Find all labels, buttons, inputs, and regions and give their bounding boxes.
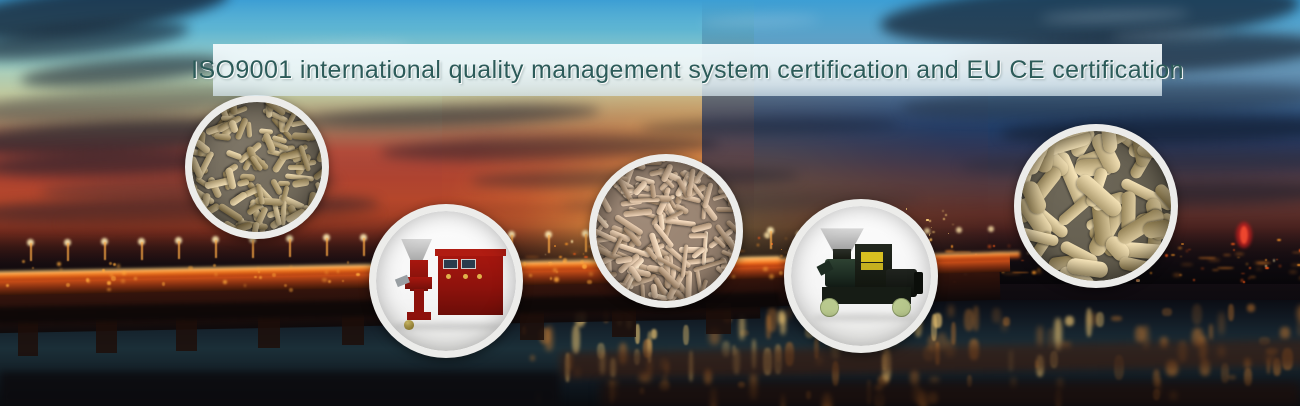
product-circle-green-black-pellet-mill[interactable] — [784, 199, 938, 353]
light-reflection — [1228, 304, 1234, 321]
page-title: ISO9001 international quality management… — [191, 56, 1184, 85]
lamp-post — [67, 243, 69, 261]
bridge-lamp — [87, 279, 91, 283]
bridge-lamp — [134, 277, 137, 280]
lamp-post — [141, 242, 143, 260]
city-light — [1171, 254, 1175, 256]
light-reflection — [651, 329, 657, 339]
bridge-lamp — [66, 283, 70, 287]
river-bank-foreground — [0, 372, 560, 406]
bridge-lamp — [523, 262, 527, 266]
city-light — [1150, 272, 1152, 274]
light-reflection — [1086, 308, 1092, 337]
lamp-post — [252, 240, 254, 258]
bridge-lamp — [553, 268, 557, 272]
wood-pellet — [650, 184, 657, 199]
light-reflection — [992, 308, 1001, 323]
city-light — [1008, 245, 1010, 247]
cabinet-meter-2 — [461, 259, 476, 269]
floor-shadow — [393, 323, 502, 330]
bridge-lamp — [107, 281, 111, 285]
city-light — [1249, 267, 1252, 269]
city-light — [932, 231, 934, 233]
bridge-lamp — [563, 258, 567, 262]
light-reflection — [1228, 375, 1236, 380]
cabinet-top — [435, 249, 506, 256]
wood-pellet — [316, 144, 322, 164]
headline-plate: ISO9001 international quality management… — [213, 44, 1162, 96]
light-reflection — [933, 313, 941, 328]
cabinet-knob-2 — [463, 274, 468, 279]
machine-label-2 — [861, 263, 883, 270]
bridge-lamp — [162, 282, 166, 286]
bridge-lamp — [779, 271, 783, 275]
wood-pellet — [292, 132, 316, 141]
circle-photo — [596, 161, 736, 301]
city-light — [570, 252, 579, 253]
bridge-lamp — [956, 227, 962, 233]
light-reflection — [780, 313, 787, 335]
light-reflection — [530, 355, 535, 360]
wood-pellet — [304, 112, 322, 118]
bridge-lamp — [763, 267, 767, 271]
city-light — [1217, 267, 1234, 269]
bridge-lamp — [107, 288, 110, 291]
light-reflection — [683, 325, 688, 345]
wood-pellet — [689, 233, 707, 239]
city-light — [583, 253, 585, 254]
lamp-post — [289, 239, 291, 257]
bridge-lamp — [325, 271, 328, 274]
city-light — [554, 245, 556, 247]
light-reflection — [1065, 316, 1074, 327]
city-light — [1240, 226, 1248, 244]
city-light — [584, 256, 588, 258]
lamp-post — [104, 242, 106, 260]
cabinet-knob-3 — [477, 274, 482, 279]
lamp-post — [178, 241, 180, 259]
wood-pellet — [229, 190, 249, 207]
city-light — [1291, 264, 1300, 265]
bridge-lamp — [284, 284, 287, 287]
lamp-post — [548, 235, 550, 253]
wood-pellet — [217, 203, 243, 224]
city-light — [785, 238, 787, 239]
motor-fan-cover — [914, 272, 922, 294]
bridge-lamp — [254, 276, 256, 278]
light-reflection — [973, 306, 978, 330]
city-light — [993, 245, 995, 247]
bridge-lamp — [117, 264, 120, 267]
city-light — [1254, 262, 1267, 264]
wood-pellet — [291, 178, 309, 187]
light-reflection — [1209, 324, 1213, 340]
bridge-lamp — [121, 279, 125, 283]
mill-housing — [405, 277, 432, 290]
lamp-post — [585, 234, 587, 252]
city-light — [1265, 267, 1268, 269]
product-circle-wood-pellets-closeup-1[interactable] — [185, 95, 329, 239]
bridge-lamp — [322, 278, 327, 283]
bridge-lamp — [769, 274, 774, 279]
light-reflection — [1111, 316, 1122, 321]
city-light — [988, 245, 991, 247]
circle-photo — [1021, 131, 1171, 281]
wood-pellet — [214, 133, 232, 141]
city-light — [1181, 264, 1193, 265]
bridge-lamp — [258, 271, 260, 273]
city-light — [1173, 274, 1181, 276]
bridge-lamp — [109, 262, 112, 265]
city-light — [1249, 276, 1256, 278]
bridge-lamp — [550, 277, 552, 279]
product-circle-wood-pellets-closeup-3[interactable] — [1014, 124, 1178, 288]
light-reflection — [766, 315, 770, 339]
bridge-lamp — [589, 272, 593, 276]
lamp-post — [326, 238, 328, 256]
wood-pellet — [1118, 256, 1153, 276]
mill-base — [407, 312, 431, 320]
city-light — [1241, 279, 1243, 282]
city-light — [565, 243, 567, 245]
wood-pellet — [313, 167, 322, 181]
floor-shadow — [813, 314, 914, 321]
product-circle-wood-pellets-closeup-2[interactable] — [589, 154, 743, 308]
city-light — [559, 256, 563, 258]
bridge-lamp — [290, 266, 292, 268]
wood-pellet — [288, 165, 306, 170]
light-reflection — [1280, 327, 1289, 339]
city-light — [952, 224, 953, 225]
circle-photo — [192, 102, 322, 232]
bridge-lamp — [554, 277, 559, 282]
lamp-post — [215, 240, 217, 258]
city-light — [1212, 269, 1220, 271]
city-light — [951, 245, 953, 247]
wood-pellet — [226, 149, 244, 160]
light-reflection — [1162, 308, 1172, 316]
light-reflection — [949, 305, 953, 317]
city-light — [1223, 254, 1231, 256]
city-light — [1181, 243, 1184, 245]
wood-pellet — [596, 272, 617, 278]
city-light — [1246, 263, 1248, 265]
product-circle-red-pellet-mill-with-control-cabinet[interactable] — [369, 204, 523, 358]
city-light — [1256, 268, 1262, 270]
bridge-lamp — [328, 280, 331, 283]
light-reflection — [1192, 304, 1203, 326]
wood-pellet — [640, 284, 646, 301]
bridge-lamp — [22, 260, 25, 263]
river-bank-silhouette-2 — [600, 382, 1300, 406]
promo-banner: ISO9001 international quality management… — [0, 0, 1300, 406]
bridge-lamp — [102, 269, 105, 272]
bridge-lamp — [356, 273, 359, 276]
lamp-post — [363, 238, 365, 256]
city-light — [1277, 239, 1281, 241]
cabinet-knob-1 — [446, 274, 451, 279]
circle-photo — [376, 211, 516, 351]
bridge-lamp — [244, 284, 246, 286]
circle-photo — [791, 206, 931, 346]
city-light — [942, 210, 944, 212]
cabinet-meter-1 — [443, 259, 458, 269]
machine-nameplate — [861, 252, 883, 262]
light-reflection — [1003, 317, 1010, 326]
bridge-lamp — [549, 262, 552, 265]
bridge-lamp — [57, 262, 61, 266]
bridge-lamp — [342, 280, 344, 282]
bridge-lamp — [582, 264, 587, 269]
bridge-lamp — [988, 226, 994, 232]
lamp-post — [30, 243, 32, 261]
light-reflection — [1247, 304, 1255, 312]
light-reflection — [572, 325, 580, 354]
light-reflection — [1096, 312, 1104, 327]
